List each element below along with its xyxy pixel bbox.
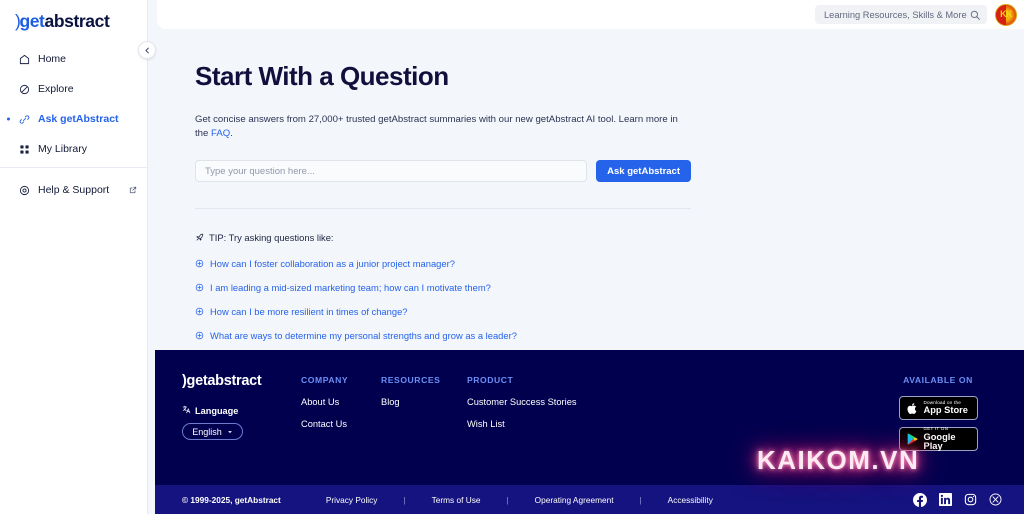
plus-circle-icon	[195, 307, 204, 316]
chevron-down-icon	[227, 427, 233, 437]
footer-link-about-us[interactable]: About Us	[301, 397, 348, 407]
site-footer: )getabstract Language English COMPANY	[155, 350, 1024, 514]
brand-abstract: abstract	[45, 11, 110, 31]
x-icon[interactable]	[989, 493, 1002, 506]
footer-link-privacy-policy[interactable]: Privacy Policy	[326, 495, 378, 505]
search-box[interactable]: Learning Resources, Skills & More	[815, 5, 987, 24]
plus-circle-icon	[195, 331, 204, 340]
footer-bottom-links: Privacy Policy | Terms of Use | Operatin…	[326, 495, 713, 505]
suggestion-label: I am leading a mid-sized marketing team;…	[210, 282, 491, 293]
language-label: Language	[182, 405, 238, 416]
brand-get: get	[19, 11, 44, 31]
link-icon	[18, 113, 31, 126]
suggestion-item[interactable]: How can I be more resilient in times of …	[195, 306, 691, 317]
plus-circle-icon	[195, 259, 204, 268]
footer-link-customer-success-stories[interactable]: Customer Success Stories	[467, 397, 577, 407]
faq-link[interactable]: FAQ	[211, 128, 230, 139]
sidebar-item-my-library[interactable]: My Library	[0, 139, 147, 159]
tip-row: TIP: Try asking questions like:	[195, 232, 691, 243]
sidebar-item-label: Home	[38, 53, 66, 65]
footer-column-heading: COMPANY	[301, 375, 348, 385]
google-play-badge[interactable]: GET IT ON Google Play	[899, 427, 978, 451]
copyright-text: © 1999-2025, getAbstract	[182, 495, 281, 505]
link-separator: |	[403, 495, 405, 505]
plus-circle-icon	[195, 283, 204, 292]
google-play-icon	[906, 432, 919, 446]
sidebar: )getabstract Home Explore	[0, 0, 148, 514]
suggestion-label: How can I be more resilient in times of …	[210, 306, 408, 317]
nav-gap	[0, 69, 147, 79]
suggestion-item[interactable]: I am leading a mid-sized marketing team;…	[195, 282, 691, 293]
suggestion-label: How can I foster collaboration as a juni…	[210, 258, 455, 269]
app-root: Learning Resources, Skills & More KK )ge…	[0, 0, 1024, 514]
page-title: Start With a Question	[195, 62, 691, 91]
sidebar-item-help-support[interactable]: Help & Support	[0, 180, 147, 200]
user-avatar[interactable]: KK	[995, 4, 1017, 26]
sidebar-item-label: My Library	[38, 143, 87, 155]
link-separator: |	[506, 495, 508, 505]
language-label-text: Language	[195, 406, 238, 416]
translate-icon	[182, 405, 191, 416]
ask-row: Ask getAbstract	[195, 160, 691, 182]
top-header: Learning Resources, Skills & More KK	[157, 0, 1024, 29]
footer-column-resources: RESOURCES Blog	[381, 375, 440, 419]
sidebar-item-explore[interactable]: Explore	[0, 79, 147, 99]
app-store-badge[interactable]: Download on the App Store	[899, 396, 978, 420]
suggestion-label: What are ways to determine my personal s…	[210, 330, 517, 341]
search-icon[interactable]	[970, 10, 980, 20]
home-icon	[18, 53, 31, 66]
footer-column-heading: RESOURCES	[381, 375, 440, 385]
footer-link-operating-agreement[interactable]: Operating Agreement	[535, 495, 614, 505]
suggestion-item[interactable]: How can I foster collaboration as a juni…	[195, 258, 691, 269]
sidebar-item-ask-getabstract[interactable]: Ask getAbstract	[0, 109, 147, 129]
footer-link-terms-of-use[interactable]: Terms of Use	[432, 495, 481, 505]
page-lede: Get concise answers from 27,000+ trusted…	[195, 113, 691, 141]
app-store-label: Download on the App Store	[924, 401, 968, 416]
active-indicator-dot	[7, 118, 10, 121]
available-on-section: AVAILABLE ON Download on the App Store	[879, 375, 997, 458]
sidebar-item-home[interactable]: Home	[0, 49, 147, 69]
nav-gap	[0, 129, 147, 139]
language-select[interactable]: English	[182, 423, 243, 440]
footer-link-contact-us[interactable]: Contact Us	[301, 419, 348, 429]
footer-link-wish-list[interactable]: Wish List	[467, 419, 577, 429]
avatar-initials: KK	[1000, 10, 1012, 19]
help-icon	[18, 184, 31, 197]
facebook-icon[interactable]	[913, 493, 927, 507]
footer-link-blog[interactable]: Blog	[381, 397, 440, 407]
sidebar-item-label: Ask getAbstract	[38, 113, 119, 125]
sidebar-item-label: Help & Support	[38, 184, 109, 196]
app-store-bottom-text: App Store	[924, 406, 968, 415]
external-link-icon	[129, 186, 137, 194]
content-divider	[195, 208, 691, 209]
search-input[interactable]: Learning Resources, Skills & More	[824, 10, 970, 20]
instagram-icon[interactable]	[964, 493, 977, 506]
google-play-top-text: GET IT ON	[924, 427, 971, 432]
compass-icon	[18, 83, 31, 96]
brand-logo[interactable]: )getabstract	[0, 0, 147, 32]
footer-column-heading: PRODUCT	[467, 375, 577, 385]
sidebar-divider	[0, 167, 147, 168]
chevron-left-icon	[144, 47, 151, 54]
ask-getabstract-button[interactable]: Ask getAbstract	[596, 160, 691, 182]
apple-icon	[906, 401, 919, 416]
rocket-icon	[195, 233, 204, 242]
language-value: English	[192, 427, 222, 437]
sidebar-item-label: Explore	[38, 83, 74, 95]
available-on-heading: AVAILABLE ON	[879, 375, 997, 385]
lede-text-after: .	[230, 128, 233, 139]
footer-link-accessibility[interactable]: Accessibility	[668, 495, 713, 505]
nav-gap	[0, 99, 147, 109]
footer-main: )getabstract Language English COMPANY	[155, 350, 1024, 485]
suggestion-item[interactable]: What are ways to determine my personal s…	[195, 330, 691, 341]
footer-column-product: PRODUCT Customer Success Stories Wish Li…	[467, 375, 577, 441]
google-play-bottom-text: Google Play	[924, 433, 971, 452]
sidebar-nav: Home Explore	[0, 49, 147, 200]
footer-brand-logo[interactable]: )getabstract	[182, 373, 261, 389]
google-play-label: GET IT ON Google Play	[924, 427, 971, 451]
lede-text-before: Get concise answers from 27,000+ trusted…	[195, 114, 678, 139]
grid-icon	[18, 143, 31, 156]
question-input[interactable]	[195, 160, 587, 182]
link-separator: |	[640, 495, 642, 505]
suggestions-list: How can I foster collaboration as a juni…	[195, 258, 691, 341]
linkedin-icon[interactable]	[939, 493, 952, 506]
social-links	[913, 493, 1002, 507]
sidebar-collapse-button[interactable]	[138, 41, 156, 59]
footer-bottom-bar: © 1999-2025, getAbstract Privacy Policy …	[155, 485, 1024, 514]
tip-label: TIP: Try asking questions like:	[209, 232, 334, 243]
ask-panel: Start With a Question Get concise answer…	[195, 62, 691, 354]
footer-column-company: COMPANY About Us Contact Us	[301, 375, 348, 441]
